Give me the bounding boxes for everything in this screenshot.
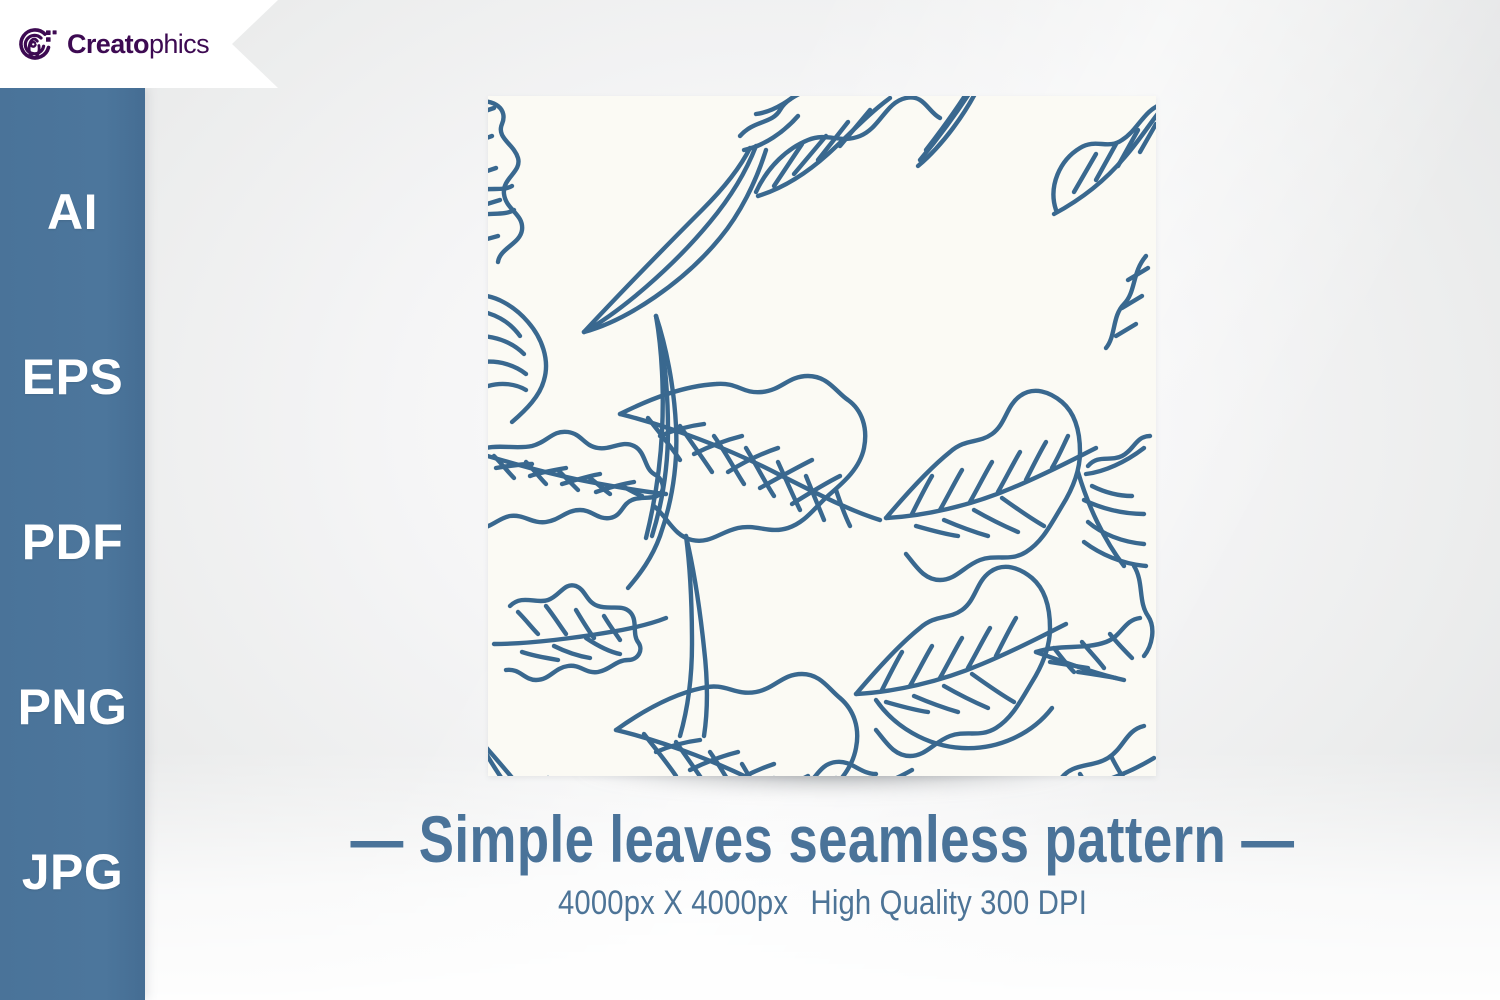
pattern-dimensions: 4000px X 4000px xyxy=(558,884,788,922)
pattern-quality: High Quality 300 DPI xyxy=(811,884,1087,922)
file-format-sidebar: AI EPS PDF PNG JPG xyxy=(0,88,145,1000)
pattern-specs: 4000px X 4000pxHigh Quality 300 DPI xyxy=(240,884,1405,923)
format-badge-png: PNG xyxy=(18,682,128,732)
brand-name: Creatophics xyxy=(67,29,209,60)
format-badge-pdf: PDF xyxy=(22,517,124,567)
format-badge-eps: EPS xyxy=(22,352,124,402)
caption-block: — Simple leaves seamless pattern — 4000p… xyxy=(145,805,1500,923)
artwork-canvas xyxy=(488,96,1156,776)
format-badge-jpg: JPG xyxy=(22,847,124,897)
brand-name-regular: phics xyxy=(149,29,209,59)
pattern-title: — Simple leaves seamless pattern — xyxy=(281,805,1365,874)
format-badge-ai: AI xyxy=(47,187,98,237)
brand-name-bold: Creato xyxy=(67,29,149,59)
spiral-squares-logo-icon xyxy=(16,22,60,66)
